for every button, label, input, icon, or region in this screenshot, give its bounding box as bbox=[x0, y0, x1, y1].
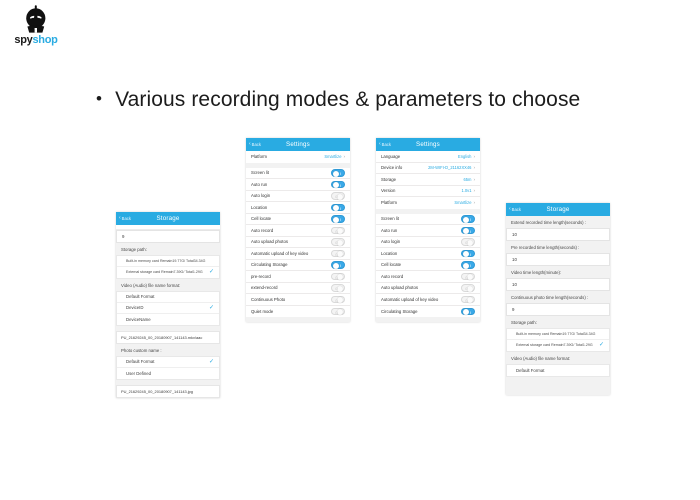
toggle-switch[interactable]: O bbox=[461, 284, 475, 292]
toggle-label: Auto upload photos bbox=[381, 285, 418, 290]
toggle-row[interactable]: Auto loginO bbox=[376, 237, 480, 249]
option-label: User Defined bbox=[126, 371, 151, 376]
row-value-wrap: English› bbox=[458, 154, 475, 159]
toggle-row[interactable]: Screen litI bbox=[376, 214, 480, 226]
list-item[interactable]: Built-in memory card Remain19.77G/ Total… bbox=[507, 329, 609, 340]
field-input[interactable]: 10 bbox=[506, 228, 610, 241]
toggle-group: Screen litIAuto runIAuto loginOLocationI… bbox=[246, 168, 350, 318]
chevron-right-icon: › bbox=[473, 154, 475, 159]
chevron-right-icon: › bbox=[343, 154, 345, 159]
slide-headline: • Various recording modes & parameters t… bbox=[96, 86, 656, 113]
toggle-state-mark: I bbox=[470, 252, 471, 258]
toggle-state-mark: I bbox=[340, 217, 341, 223]
toggle-row[interactable]: Circulating StorageI bbox=[246, 260, 350, 272]
option-label: Default Format bbox=[126, 359, 154, 364]
top-value-input[interactable]: 9 bbox=[116, 230, 220, 243]
toggle-switch[interactable]: O bbox=[331, 284, 345, 292]
brand-wordmark: spyshop bbox=[6, 35, 66, 46]
toggle-switch[interactable]: I bbox=[331, 204, 345, 212]
toggle-label: pre-record bbox=[251, 274, 271, 279]
toggle-label: Auto run bbox=[251, 182, 267, 187]
toggle-knob bbox=[333, 182, 339, 188]
toggle-label: Auto upload photos bbox=[251, 239, 288, 244]
brand-logo: spyshop bbox=[6, 4, 66, 50]
toggle-row[interactable]: Auto recordO bbox=[376, 271, 480, 283]
field-label: Video time length(minute): bbox=[506, 266, 610, 278]
nav-bar: ‹ Back Storage bbox=[506, 203, 610, 216]
list-item[interactable]: Default Format bbox=[507, 365, 609, 376]
toggle-label: Auto run bbox=[381, 228, 397, 233]
row-value-wrap: 1.0v1› bbox=[461, 188, 475, 193]
field-input[interactable]: 9 bbox=[506, 303, 610, 316]
setting-row-language[interactable]: LanguageEnglish› bbox=[376, 151, 480, 163]
nav-title: Storage bbox=[116, 215, 220, 222]
toggle-state-mark: O bbox=[335, 194, 338, 200]
toggle-switch[interactable]: I bbox=[461, 308, 475, 316]
toggle-switch[interactable]: I bbox=[461, 215, 475, 223]
toggle-label: Continuous Photo bbox=[251, 297, 285, 302]
video-format-label: Video (Audio) file name format: bbox=[506, 352, 610, 364]
toggle-row[interactable]: Automatic upload of key videoO bbox=[376, 294, 480, 306]
storage-path-label: Storage path: bbox=[116, 243, 220, 255]
setting-row-storage[interactable]: Storage65m› bbox=[376, 174, 480, 186]
toggle-knob bbox=[463, 251, 469, 257]
toggle-row[interactable]: Auto upload photosO bbox=[246, 237, 350, 249]
toggle-label: Cell locate bbox=[251, 216, 271, 221]
toggle-switch[interactable]: O bbox=[331, 238, 345, 246]
nav-bar: ‹ Back Settings bbox=[246, 138, 350, 151]
chevron-right-icon: › bbox=[473, 200, 475, 205]
chevron-right-icon: › bbox=[473, 188, 475, 193]
toggle-state-mark: I bbox=[470, 217, 471, 223]
field-group: Extend recorded time length(seconds) :10… bbox=[506, 216, 610, 316]
option-label: DeviceName bbox=[126, 317, 151, 322]
row-value: Smartlize bbox=[454, 200, 471, 205]
setting-row-device-info[interactable]: Device info2M-WIFI-D_21162XX46› bbox=[376, 163, 480, 175]
list-item[interactable]: User Defined bbox=[117, 368, 219, 379]
toggle-knob bbox=[463, 228, 469, 234]
toggle-state-mark: O bbox=[465, 275, 468, 281]
toggle-switch[interactable]: I bbox=[461, 261, 475, 269]
toggle-label: Auto login bbox=[381, 239, 400, 244]
list-item[interactable]: Built-in memory card Remain19.77G/ Total… bbox=[117, 256, 219, 267]
toggle-knob bbox=[463, 309, 469, 315]
field-label: Pre recorded time length(seconds) : bbox=[506, 241, 610, 253]
toggle-label: Auto login bbox=[251, 193, 270, 198]
toggle-switch[interactable]: O bbox=[461, 238, 475, 246]
toggle-row[interactable]: Auto recordO bbox=[246, 225, 350, 237]
check-mark-icon: ✓ bbox=[209, 359, 214, 365]
list-item[interactable]: Default Format bbox=[117, 292, 219, 303]
toggle-label: Auto record bbox=[381, 274, 403, 279]
row-value-wrap: 65m› bbox=[464, 177, 476, 182]
toggle-state-mark: I bbox=[470, 229, 471, 235]
toggle-row[interactable]: Quiet modeO bbox=[246, 306, 350, 318]
bullet-glyph: • bbox=[96, 86, 102, 112]
toggle-label: Location bbox=[381, 251, 397, 256]
toggle-row[interactable]: Auto upload photosO bbox=[376, 283, 480, 295]
toggle-label: Quiet mode bbox=[251, 309, 273, 314]
field-input[interactable]: 10 bbox=[506, 253, 610, 266]
photo-custom-label: Photo custom name : bbox=[116, 344, 220, 356]
toggle-switch[interactable]: O bbox=[461, 296, 475, 304]
toggle-state-mark: O bbox=[335, 275, 338, 281]
toggle-state-mark: O bbox=[335, 286, 338, 292]
info-group: LanguageEnglish›Device info2M-WIFI-D_211… bbox=[376, 151, 480, 209]
toggle-state-mark: O bbox=[335, 252, 338, 258]
toggle-knob bbox=[333, 217, 339, 223]
video-format-label: Video (Audio) file name format: bbox=[116, 279, 220, 291]
setting-row-platform[interactable]: Platform Smartlize › bbox=[246, 151, 350, 163]
nav-title: Settings bbox=[246, 141, 350, 148]
option-label: Default Format bbox=[516, 368, 544, 373]
toggle-label: Cell locate bbox=[381, 262, 401, 267]
setting-row-platform[interactable]: PlatformSmartlize› bbox=[376, 197, 480, 209]
storage-path-label: Storage path: bbox=[506, 316, 610, 328]
toggle-knob bbox=[463, 217, 469, 223]
toggle-knob bbox=[463, 263, 469, 269]
toggle-state-mark: O bbox=[335, 310, 338, 316]
toggle-row[interactable]: Cell locateI bbox=[246, 214, 350, 226]
toggle-state-mark: I bbox=[340, 183, 341, 189]
storage-path-list: Built-in memory card Remain19.77G/ Total… bbox=[506, 328, 610, 352]
toggle-state-mark: O bbox=[465, 286, 468, 292]
toggle-knob bbox=[333, 171, 339, 177]
toggle-state-mark: I bbox=[340, 206, 341, 212]
brand-word-secondary: shop bbox=[32, 34, 57, 46]
toggle-row[interactable]: LocationI bbox=[246, 202, 350, 214]
row-value: English bbox=[458, 154, 471, 159]
toggle-switch[interactable]: O bbox=[331, 308, 345, 316]
toggle-row[interactable]: Auto runI bbox=[376, 225, 480, 237]
row-value: 65m bbox=[464, 177, 472, 182]
check-mark-icon: ✓ bbox=[209, 305, 214, 311]
toggle-state-mark: I bbox=[470, 310, 471, 316]
toggle-switch[interactable]: O bbox=[331, 227, 345, 235]
toggle-switch[interactable]: O bbox=[331, 250, 345, 258]
video-filename-sample: PU_21629245_00_20180907_141143.mkv/aac bbox=[116, 331, 220, 344]
toggle-state-mark: O bbox=[465, 240, 468, 246]
headline-text: Various recording modes & parameters to … bbox=[115, 86, 580, 113]
row-label: Platform bbox=[381, 200, 397, 205]
toggle-state-mark: I bbox=[340, 263, 341, 269]
nav-title: Settings bbox=[376, 141, 480, 148]
brand-word-primary: spy bbox=[14, 34, 32, 46]
toggle-row[interactable]: Auto runI bbox=[246, 179, 350, 191]
toggle-switch[interactable]: O bbox=[331, 296, 345, 304]
row-value: Smartlize bbox=[324, 154, 341, 159]
row-value: 1.0v1 bbox=[461, 188, 471, 193]
phone-screenshot-storage-file-format: ‹ Back Storage 9 Storage path: Built-in … bbox=[116, 212, 220, 398]
row-label: Platform bbox=[251, 154, 267, 159]
toggle-label: Automatic upload of key video bbox=[251, 251, 308, 256]
toggle-switch[interactable]: I bbox=[331, 181, 345, 189]
row-label: Language bbox=[381, 154, 400, 159]
check-mark-icon: ✓ bbox=[209, 269, 214, 275]
list-item[interactable]: DeviceID ✓ bbox=[117, 303, 219, 314]
toggle-switch[interactable]: O bbox=[461, 273, 475, 281]
storage-path-text: Built-in memory card Remain19.77G/ Total… bbox=[126, 259, 205, 264]
settings-scroll-area[interactable]: 9 Storage path: Built-in memory card Rem… bbox=[116, 225, 220, 398]
storage-path-text: Built-in memory card Remain19.77G/ Total… bbox=[516, 332, 595, 337]
toggle-switch[interactable]: I bbox=[331, 261, 345, 269]
setting-row-version[interactable]: Version1.0v1› bbox=[376, 186, 480, 198]
settings-scroll-area[interactable]: LanguageEnglish›Device info2M-WIFI-D_211… bbox=[376, 151, 480, 317]
row-value: 2M-WIFI-D_21162XX46 bbox=[428, 165, 471, 170]
toggle-label: Circulating Storage bbox=[381, 309, 418, 314]
toggle-row[interactable]: extend-recordO bbox=[246, 283, 350, 295]
ninja-mascot-icon bbox=[19, 4, 53, 34]
toggle-row[interactable]: Screen litI bbox=[246, 168, 350, 180]
toggle-switch[interactable]: I bbox=[461, 227, 475, 235]
toggle-row[interactable]: Cell locateI bbox=[376, 260, 480, 272]
toggle-label: Screen lit bbox=[381, 216, 399, 221]
chevron-right-icon: › bbox=[473, 177, 475, 182]
photo-filename-sample: PU_21629245_00_20180907_141143.jpg bbox=[116, 385, 220, 398]
toggle-label: extend-record bbox=[251, 285, 278, 290]
photo-format-option-list: Default Format ✓ User Defined bbox=[116, 356, 220, 380]
check-mark-icon: ✓ bbox=[599, 342, 604, 348]
toggle-row[interactable]: pre-recordO bbox=[246, 271, 350, 283]
toggle-group: Screen litIAuto runIAuto loginOLocationI… bbox=[376, 214, 480, 318]
option-label: Default Format bbox=[126, 294, 154, 299]
field-input[interactable]: 10 bbox=[506, 278, 610, 291]
toggle-state-mark: O bbox=[335, 229, 338, 235]
storage-path-text: External storage card Remain7.39G/ Total… bbox=[126, 270, 203, 275]
field-label: Extend recorded time length(seconds) : bbox=[506, 216, 610, 228]
row-label: Version bbox=[381, 188, 395, 193]
toggle-row[interactable]: Auto loginO bbox=[246, 191, 350, 203]
phone-screenshot-storage-time-lengths: ‹ Back Storage Extend recorded time leng… bbox=[506, 203, 610, 395]
toggle-label: Screen lit bbox=[251, 170, 269, 175]
toggle-switch[interactable]: I bbox=[461, 250, 475, 258]
storage-path-text: External storage card Remain7.39G/ Total… bbox=[516, 343, 593, 348]
nav-bar: ‹ Back Storage bbox=[116, 212, 220, 225]
row-value-wrap: Smartlize › bbox=[324, 154, 345, 159]
toggle-label: Auto record bbox=[251, 228, 273, 233]
list-item[interactable]: DeviceName bbox=[117, 314, 219, 325]
toggle-row[interactable]: LocationI bbox=[376, 248, 480, 260]
list-item[interactable]: External storage card Remain7.39G/ Total… bbox=[117, 267, 219, 278]
toggle-row[interactable]: Continuous PhotoO bbox=[246, 294, 350, 306]
nav-title: Storage bbox=[506, 206, 610, 213]
toggle-state-mark: O bbox=[335, 298, 338, 304]
phone-screenshot-settings-device-info: ‹ Back Settings LanguageEnglish›Device i… bbox=[376, 138, 480, 322]
toggle-knob bbox=[333, 263, 339, 269]
toggle-switch[interactable]: O bbox=[331, 273, 345, 281]
storage-path-list: Built-in memory card Remain19.77G/ Total… bbox=[116, 255, 220, 279]
option-label: DeviceID bbox=[126, 305, 143, 310]
toggle-row[interactable]: Circulating StorageI bbox=[376, 306, 480, 318]
video-format-option-list: Default Format bbox=[506, 364, 610, 377]
row-label: Storage bbox=[381, 177, 396, 182]
toggle-row[interactable]: Automatic upload of key videoO bbox=[246, 248, 350, 260]
chevron-right-icon: › bbox=[473, 165, 475, 170]
video-format-option-list: Default Format DeviceID ✓ DeviceName bbox=[116, 291, 220, 326]
field-label: Continuous photo time length(seconds) : bbox=[506, 291, 610, 303]
row-value-wrap: Smartlize› bbox=[454, 200, 475, 205]
toggle-switch[interactable]: I bbox=[331, 169, 345, 177]
toggle-switch[interactable]: O bbox=[331, 192, 345, 200]
toggle-knob bbox=[333, 205, 339, 211]
toggle-switch[interactable]: I bbox=[331, 215, 345, 223]
list-item[interactable]: External storage card Remain7.39G/ Total… bbox=[507, 340, 609, 351]
toggle-label: Location bbox=[251, 205, 267, 210]
toggle-label: Circulating Storage bbox=[251, 262, 288, 267]
phone-screenshot-settings-platform: ‹ Back Settings Platform Smartlize › Scr… bbox=[246, 138, 350, 322]
settings-scroll-area[interactable]: Platform Smartlize › Screen litIAuto run… bbox=[246, 151, 350, 317]
settings-scroll-area[interactable]: Extend recorded time length(seconds) :10… bbox=[506, 216, 610, 377]
toggle-state-mark: O bbox=[335, 240, 338, 246]
row-label: Device info bbox=[381, 165, 402, 170]
toggle-state-mark: O bbox=[465, 298, 468, 304]
list-item[interactable]: Default Format ✓ bbox=[117, 357, 219, 368]
row-value-wrap: 2M-WIFI-D_21162XX46› bbox=[428, 165, 475, 170]
toggle-state-mark: I bbox=[340, 171, 341, 177]
info-group: Platform Smartlize › bbox=[246, 151, 350, 163]
toggle-label: Automatic upload of key video bbox=[381, 297, 438, 302]
toggle-state-mark: I bbox=[470, 263, 471, 269]
nav-bar: ‹ Back Settings bbox=[376, 138, 480, 151]
